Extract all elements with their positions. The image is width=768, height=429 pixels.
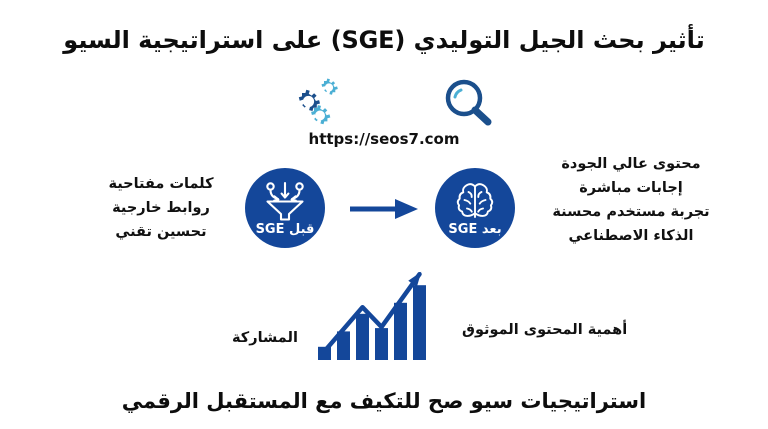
chart-label-trust: أهمية المحتوى الموثوق <box>462 322 627 338</box>
arrow-right-icon <box>350 198 420 220</box>
chart-bar <box>337 331 350 360</box>
svg-text:سيو صح: سيو صح <box>436 83 438 118</box>
after-point: تجربة مستخدم محسنة <box>540 200 722 224</box>
brand-wordmark: سيو صح <box>352 78 438 126</box>
chart-bar <box>413 285 426 360</box>
growth-chart-svg <box>300 268 480 364</box>
after-point: إجابات مباشرة <box>540 176 722 200</box>
chart-bar <box>318 347 331 360</box>
after-sge-label: بعد SGE <box>448 222 501 237</box>
funnel-icon <box>263 179 307 221</box>
before-point: كلمات مفتاحية <box>96 172 226 196</box>
brain-icon <box>454 179 496 221</box>
magnifier-icon <box>440 77 496 127</box>
after-point: الذكاء الاصطناعي <box>540 224 722 248</box>
infographic-canvas: تأثير بحث الجيل التوليدي (SGE) على استرا… <box>0 0 768 429</box>
growth-chart <box>300 268 480 364</box>
after-points-list: محتوى عالي الجودة إجابات مباشرة تجربة مس… <box>540 152 722 248</box>
after-point: محتوى عالي الجودة <box>540 152 722 176</box>
before-sge-label: قبل SGE <box>256 222 315 237</box>
brand-url: https://seos7.com <box>309 130 460 148</box>
footer-tagline: استراتيجيات سيو صح للتكيف مع المستقبل ال… <box>0 389 768 413</box>
chart-bar <box>394 303 407 360</box>
chart-bar <box>375 328 388 360</box>
after-sge-badge: بعد SGE <box>435 168 515 248</box>
before-point: تحسين تقني <box>96 220 226 244</box>
chart-bar <box>356 314 369 360</box>
before-point: روابط خارجية <box>96 196 226 220</box>
before-points-list: كلمات مفتاحية روابط خارجية تحسين تقني <box>96 172 226 244</box>
page-title: تأثير بحث الجيل التوليدي (SGE) على استرا… <box>0 26 768 54</box>
brand-logo: سيو صح https://seos7.com <box>0 76 768 148</box>
gears-icon <box>288 77 350 127</box>
chart-label-engagement: المشاركة <box>232 330 298 346</box>
logo-row: سيو صح <box>288 76 480 128</box>
before-sge-badge: قبل SGE <box>245 168 325 248</box>
